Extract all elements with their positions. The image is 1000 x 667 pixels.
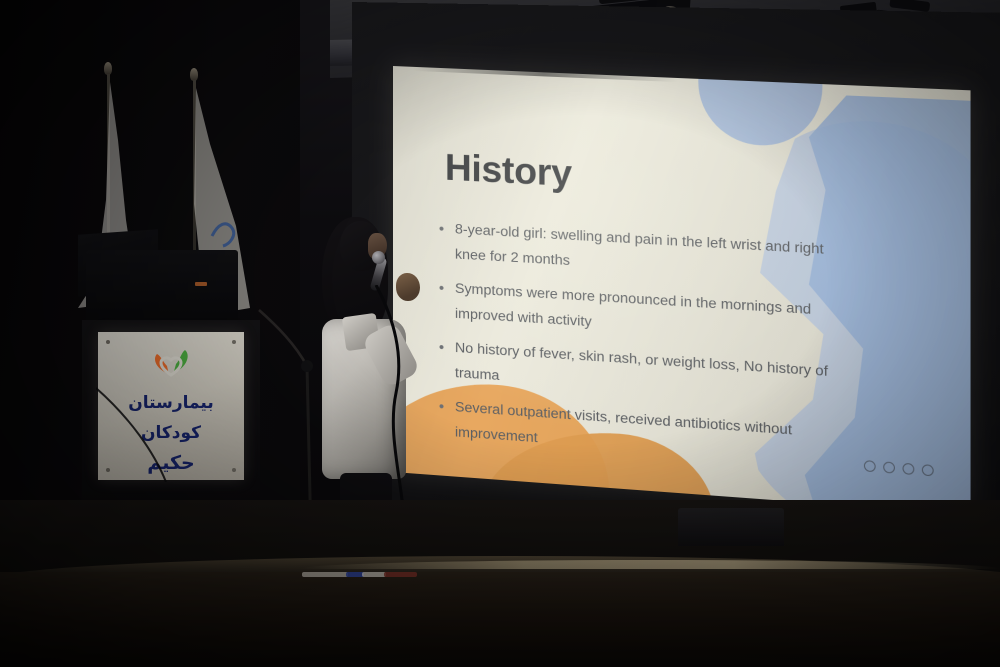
venue-sign-text: بیمارستان کودکان حکیم [98, 388, 244, 478]
sign-screw-icon [106, 468, 110, 472]
hospital-logo-icon [149, 344, 193, 380]
auditorium-scene: History • 8-year-old girl: swelling and … [0, 0, 1000, 667]
monitor-power-led-icon [195, 282, 207, 286]
sign-screw-icon [232, 468, 236, 472]
venue-sign-line-2: حکیم [98, 448, 244, 478]
equipment-case [678, 508, 784, 546]
stage-apron [0, 572, 1000, 667]
bullet-marker-icon: • [439, 216, 455, 267]
marker-white [302, 572, 348, 577]
marker-silver [362, 572, 386, 577]
slide-bullet-list: • 8-year-old girl: swelling and pain in … [439, 216, 829, 481]
venue-sign: بیمارستان کودکان حکیم [98, 332, 244, 480]
microphone-head-icon [372, 251, 385, 264]
bullet-marker-icon: • [439, 335, 455, 386]
venue-sign-line-1: بیمارستان کودکان [98, 388, 244, 448]
pagination-dot-icon[interactable] [883, 461, 895, 473]
sign-screw-icon [106, 340, 110, 344]
bullet-marker-icon: • [439, 394, 455, 445]
pagination-dot-icon[interactable] [864, 460, 876, 472]
presentation-slide[interactable]: History • 8-year-old girl: swelling and … [393, 66, 971, 515]
pagination-dot-icon[interactable] [922, 464, 934, 476]
markers-on-stage-edge [302, 572, 417, 578]
sign-screw-icon [232, 340, 236, 344]
slide-title: History [445, 147, 572, 196]
marker-red [384, 572, 417, 577]
pagination-dot-icon[interactable] [902, 463, 914, 475]
bullet-marker-icon: • [439, 276, 455, 327]
presenter-hand [396, 273, 420, 301]
podium-monitor[interactable] [86, 250, 238, 324]
